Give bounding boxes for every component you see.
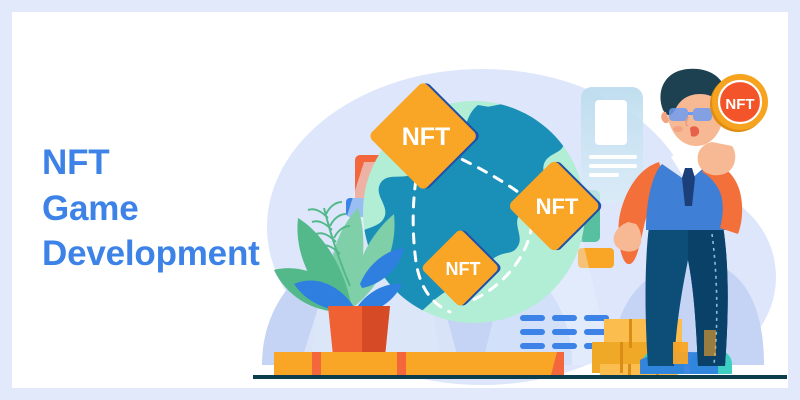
hand-right [698,142,736,175]
screen-line [589,155,637,159]
screen-line [589,164,637,168]
page-title: NFT Game Development [42,140,260,277]
shelf-bar [274,352,564,375]
banner-canvas: NFT NFT NFT [12,12,788,388]
nft-card-label: NFT [402,123,451,151]
nft-coin-label: NFT [725,96,754,113]
nft-card-label: NFT [536,194,579,219]
nft-card-label: NFT [446,259,481,279]
ground-line [253,375,787,379]
screen-panel [595,100,627,145]
screen-line [589,173,619,177]
